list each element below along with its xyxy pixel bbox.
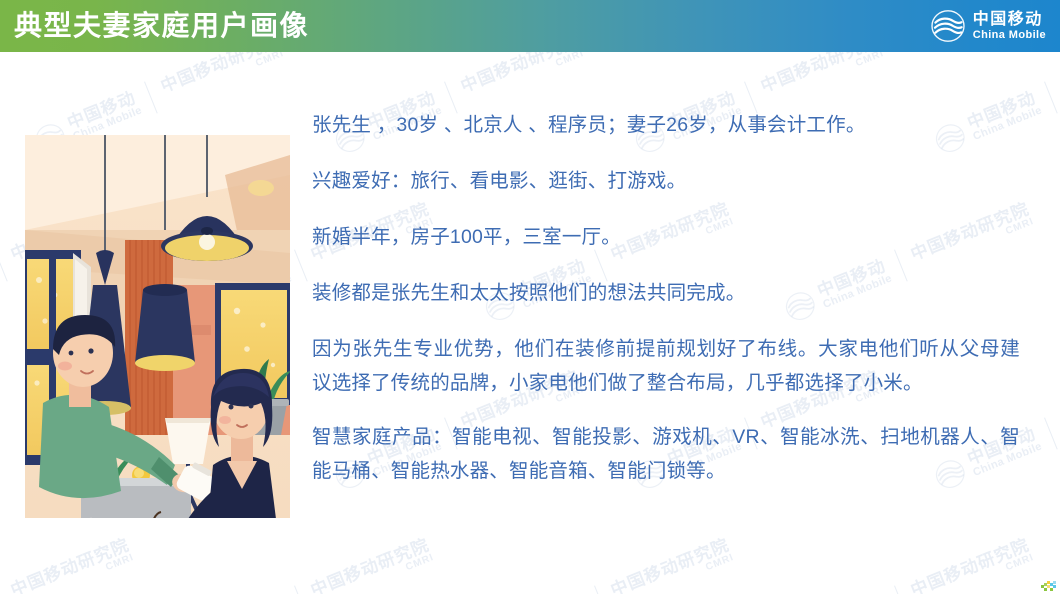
brand-name-cn: 中国移动 — [973, 12, 1046, 28]
page-title: 典型夫妻家庭用户画像 — [14, 8, 309, 44]
watermark-en-secondary: CMRI — [615, 553, 736, 594]
watermark-tile: 中国移动China Mobile中国移动研究院CMRI — [180, 533, 437, 594]
home-couple-illustration — [25, 135, 290, 518]
china-mobile-logo-icon — [931, 10, 965, 42]
watermark-en-secondary: CMRI — [15, 553, 136, 594]
profile-text-body: 张先生 ，30岁 、北京人 、程序员；妻子26岁，从事会计工作。 兴趣爱好：旅行… — [312, 108, 1020, 488]
watermark-cn-secondary: 中国移动研究院 — [908, 536, 1032, 594]
watermark-divider — [594, 585, 608, 594]
watermark-divider — [894, 585, 908, 594]
watermark-en-secondary: CMRI — [915, 553, 1036, 594]
brand-logo: 中国移动 China Mobile — [931, 10, 1046, 42]
watermark-en-secondary: CMRI — [165, 49, 286, 106]
watermark-divider — [0, 249, 8, 281]
page-header: 典型夫妻家庭用户画像 中国移动 China Mobile — [0, 0, 1060, 52]
paragraph-appliance-choice: 因为张先生专业优势，他们在装修前提前规划好了布线。大家电他们听从父母建议选择了传… — [312, 332, 1020, 400]
paragraph-housing: 新婚半年，房子100平，三室一厅。 — [312, 220, 1020, 254]
watermark-cn-primary: 中国移动 — [65, 89, 140, 133]
watermark-divider — [1044, 81, 1058, 113]
watermark-cn-secondary: 中国移动研究院 — [308, 536, 432, 594]
watermark-en-secondary: CMRI — [765, 49, 886, 106]
watermark-divider — [144, 81, 158, 113]
watermark-cn-secondary: 中国移动研究院 — [608, 536, 732, 594]
watermark-divider — [1044, 417, 1058, 449]
watermark-cn-secondary: 中国移动研究院 — [8, 536, 132, 594]
watermark-tile: 中国移动China Mobile中国移动研究院CMRI — [0, 533, 137, 594]
paragraph-basic-info: 张先生 ，30岁 、北京人 、程序员；妻子26岁，从事会计工作。 — [312, 108, 1020, 142]
watermark-en-secondary: CMRI — [465, 49, 586, 106]
watermark-tile: 中国移动China Mobile中国移动研究院CMRI — [780, 533, 1037, 594]
watermark-en-secondary: CMRI — [315, 553, 436, 594]
paragraph-smart-home-products: 智慧家庭产品：智能电视、智能投影、游戏机、VR、智能冰洗、扫地机器人、智能马桶、… — [312, 420, 1020, 488]
pixel-logo-icon — [1040, 579, 1058, 592]
watermark-tile: 中国移动China Mobile中国移动研究院CMRI — [480, 533, 737, 594]
paragraph-decoration: 装修都是张先生和太太按照他们的想法共同完成。 — [312, 276, 1020, 310]
paragraph-hobbies: 兴趣爱好：旅行、看电影、逛街、打游戏。 — [312, 164, 1020, 198]
watermark-divider — [294, 249, 308, 281]
watermark-divider — [0, 585, 8, 594]
brand-name-en: China Mobile — [973, 30, 1046, 41]
watermark-divider — [294, 585, 308, 594]
